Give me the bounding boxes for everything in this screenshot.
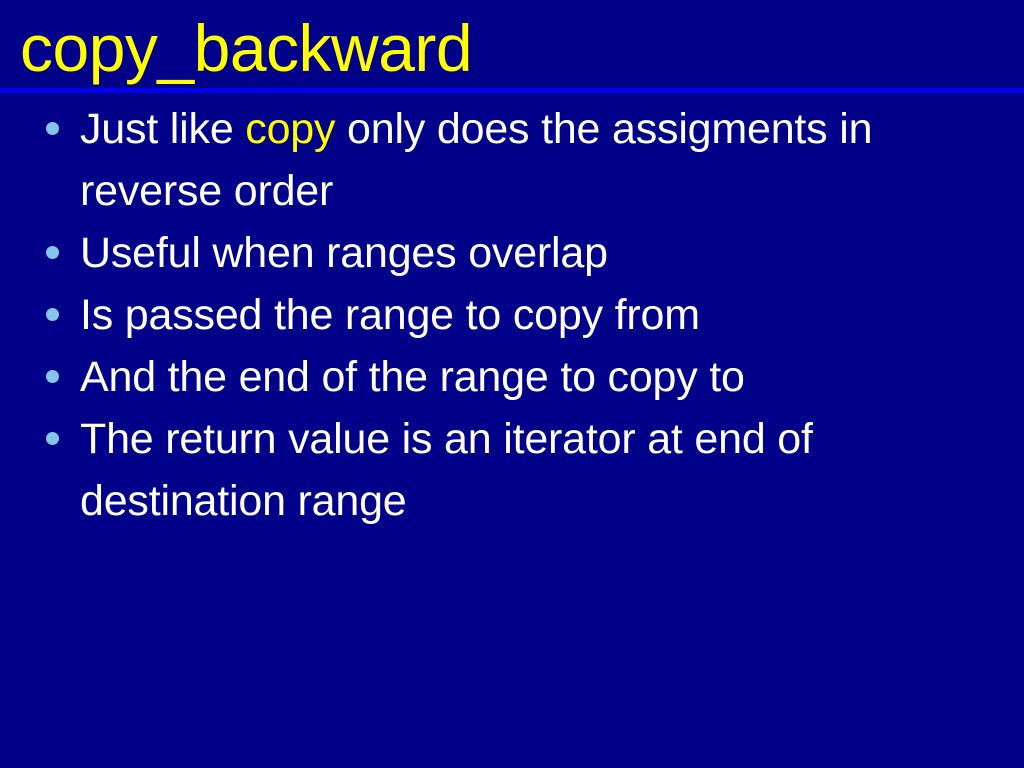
list-item-label: Just like copy only does the assigments … (80, 105, 872, 215)
disc-bullet-icon (46, 246, 59, 259)
body-text: The return value is an iterator at end o… (80, 415, 813, 525)
list-item-label: Is passed the range to copy from (80, 291, 700, 339)
page-title: copy_backward (20, 8, 472, 88)
list-item: And the end of the range to copy to (0, 346, 1024, 408)
bullet-list: Just like copy only does the assigments … (0, 98, 1024, 532)
body-text: Is passed the range to copy from (80, 291, 700, 339)
title-divider-rule (0, 88, 1024, 93)
list-item: Is passed the range to copy from (0, 284, 1024, 346)
disc-bullet-icon (46, 308, 59, 321)
slide-title-area: copy_backward (0, 0, 1024, 88)
list-item: The return value is an iterator at end o… (0, 408, 1024, 532)
body-text: And the end of the range to copy to (80, 353, 745, 401)
disc-bullet-icon (46, 122, 59, 135)
body-text: Useful when ranges overlap (80, 229, 608, 277)
list-item: Just like copy only does the assigments … (0, 98, 1024, 222)
presentation-slide: copy_backward Just like copy only does t… (0, 0, 1024, 768)
list-item: Useful when ranges overlap (0, 222, 1024, 284)
list-item-label: And the end of the range to copy to (80, 353, 745, 401)
disc-bullet-icon (46, 370, 59, 383)
list-item-label: Useful when ranges overlap (80, 229, 608, 277)
slide-body-area: Just like copy only does the assigments … (0, 98, 1024, 532)
accent-term: copy (245, 105, 335, 153)
body-text: Just like (80, 105, 245, 153)
disc-bullet-icon (46, 432, 59, 445)
list-item-label: The return value is an iterator at end o… (80, 415, 813, 525)
